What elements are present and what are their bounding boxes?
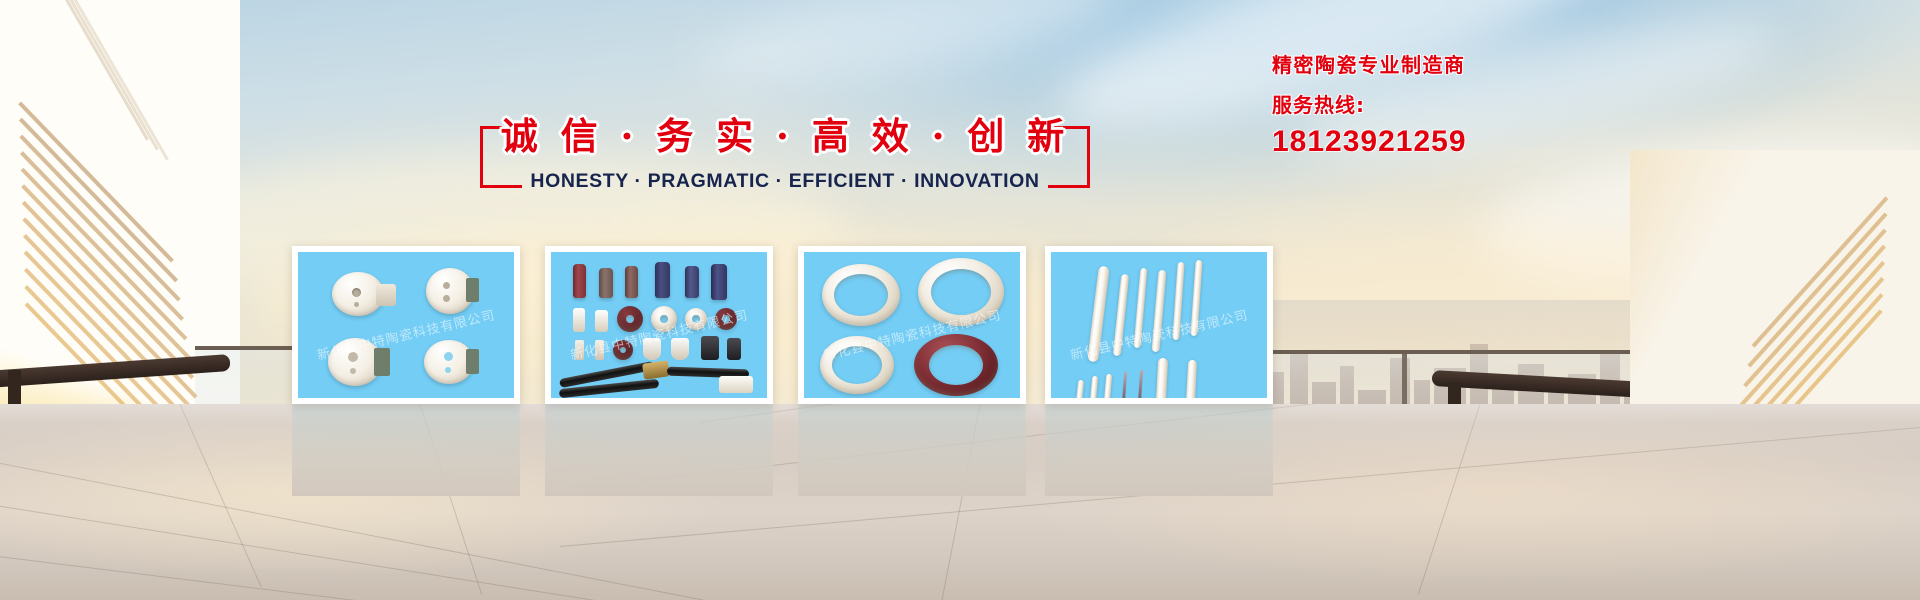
- connector-plug: [719, 376, 753, 393]
- ceramic-rod-small: [1090, 376, 1098, 398]
- ceramic-socket-neck: [376, 284, 396, 306]
- socket-hole: [444, 352, 453, 361]
- ceramic-rod-small: [1186, 360, 1197, 398]
- ceramic-tube: [625, 266, 638, 298]
- hotline-label: 服务热线:: [1272, 92, 1692, 118]
- ceramic-washer: [617, 306, 643, 332]
- ceramic-washer: [651, 306, 677, 332]
- company-tagline: 精密陶瓷专业制造商: [1272, 52, 1692, 78]
- foreground-rail-left-support: [8, 370, 21, 404]
- ceramic-rod-small: [1156, 358, 1168, 398]
- ceramic-ring: [918, 258, 1004, 326]
- ceramic-tube: [685, 266, 699, 298]
- ceramic-rod-small: [1076, 380, 1084, 398]
- socket-contact: [374, 348, 390, 376]
- ceramic-rod: [1172, 262, 1184, 340]
- ceramic-rod: [1113, 274, 1130, 356]
- ceramic-rod-small: [1104, 374, 1113, 398]
- ceramic-rod: [1190, 260, 1202, 336]
- product-card-image: 新化县中特陶瓷科技有限公司: [1051, 252, 1267, 398]
- railing-post: [1402, 352, 1407, 404]
- ceramic-tube: [655, 262, 670, 298]
- metal-terminal: [727, 338, 741, 360]
- ceramic-ring: [820, 336, 894, 394]
- ceramic-rod: [1151, 270, 1166, 352]
- ceramic-rod: [1087, 266, 1110, 363]
- ceramic-ring: [822, 264, 900, 326]
- product-card-image: 新化县中特陶瓷科技有限公司: [551, 252, 767, 398]
- ceramic-insulator-plate: [573, 308, 585, 332]
- ceramic-rod: [1134, 268, 1148, 348]
- socket-hole: [348, 352, 358, 362]
- connector-head: [642, 360, 670, 379]
- socket-hole: [443, 295, 450, 302]
- product-card[interactable]: 新化县中特陶瓷科技有限公司: [545, 246, 773, 404]
- ceramic-tube: [573, 264, 586, 298]
- ceramic-washer: [715, 308, 737, 330]
- slogan-chinese: 诚 信 · 务 实 · 高 效 · 创 新: [480, 108, 1090, 164]
- ceramic-washer: [685, 308, 707, 330]
- product-card[interactable]: 新化县中特陶瓷科技有限公司: [292, 246, 520, 404]
- slogan-block: 诚 信 · 务 实 · 高 效 · 创 新 HONESTY · PRAGMATI…: [480, 108, 1090, 198]
- product-card[interactable]: 新化县中特陶瓷科技有限公司: [1045, 246, 1273, 404]
- ceramic-cone: [643, 338, 661, 360]
- metal-terminal: [701, 336, 719, 360]
- contact-block: 精密陶瓷专业制造商 服务热线: 18123921259: [1272, 52, 1692, 160]
- socket-hole: [445, 367, 451, 373]
- socket-hole: [350, 368, 356, 374]
- slogan-english: HONESTY · PRAGMATIC · EFFICIENT · INNOVA…: [480, 170, 1090, 193]
- product-card-image: 新化县中特陶瓷科技有限公司: [804, 252, 1020, 398]
- product-card-image: 新化县中特陶瓷科技有限公司: [298, 252, 514, 398]
- ceramic-bead: [613, 340, 633, 360]
- railing-handrail: [1240, 350, 1660, 354]
- ceramic-insulator-plate: [595, 310, 608, 332]
- ceramic-needle: [1138, 370, 1143, 398]
- ceramic-cone: [671, 338, 689, 360]
- socket-contact: [466, 278, 479, 302]
- banner-stage: 诚 信 · 务 实 · 高 效 · 创 新 HONESTY · PRAGMATI…: [0, 0, 1920, 600]
- socket-hole: [352, 288, 361, 297]
- polished-floor: [0, 404, 1920, 600]
- hotline-number[interactable]: 18123921259: [1272, 124, 1692, 160]
- ceramic-tube: [711, 264, 727, 300]
- ceramic-seal-ring: [914, 334, 998, 396]
- ceramic-needle: [1122, 372, 1127, 398]
- socket-hole: [443, 282, 450, 289]
- socket-contact: [466, 349, 479, 374]
- socket-hole: [354, 302, 359, 307]
- ceramic-pin: [575, 340, 584, 360]
- ceramic-tube: [599, 268, 613, 298]
- ceramic-pin: [595, 340, 604, 360]
- product-card[interactable]: 新化县中特陶瓷科技有限公司: [798, 246, 1026, 404]
